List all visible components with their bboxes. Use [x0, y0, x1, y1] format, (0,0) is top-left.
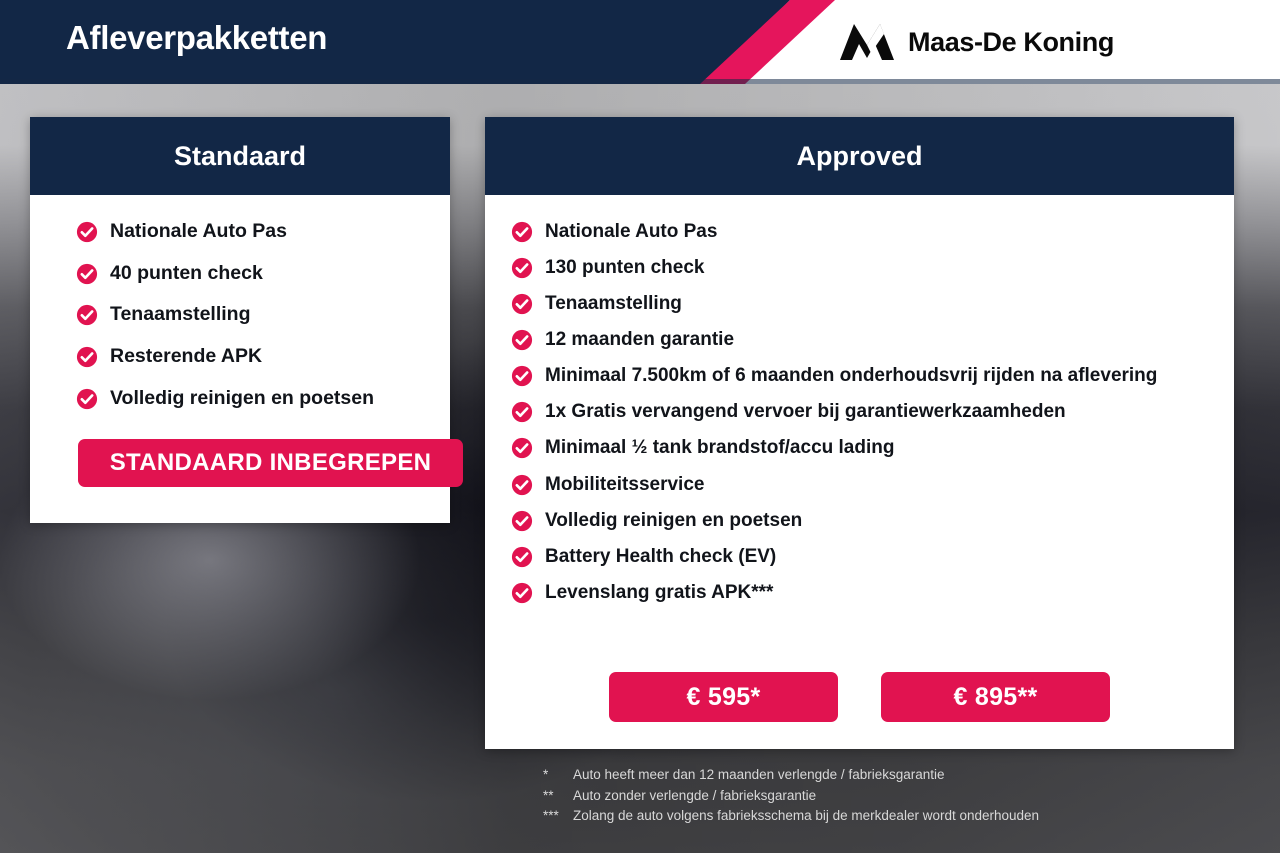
feature-label: Tenaamstelling: [110, 302, 251, 328]
feature-item: Mobiliteitsservice: [511, 472, 1234, 497]
card-body-standaard: Nationale Auto Pas40 punten checkTenaams…: [30, 195, 450, 412]
feature-item: 130 punten check: [511, 255, 1234, 280]
price-button[interactable]: € 595*: [609, 672, 838, 722]
brand-logo: Maas-De Koning: [838, 18, 1114, 66]
feature-item: Volledig reinigen en poetsen: [76, 386, 450, 412]
check-circle-icon: [511, 474, 533, 496]
check-circle-icon: [511, 510, 533, 532]
card-title-standaard: Standaard: [30, 117, 450, 195]
check-circle-icon: [511, 365, 533, 387]
check-circle-icon: [511, 221, 533, 243]
feature-item: Minimaal 7.500km of 6 maanden onderhouds…: [511, 363, 1234, 388]
feature-label: 1x Gratis vervangend vervoer bij garanti…: [545, 399, 1066, 424]
feature-item: Levenslang gratis APK***: [511, 580, 1234, 605]
feature-item: 12 maanden garantie: [511, 327, 1234, 352]
feature-item: Volledig reinigen en poetsen: [511, 508, 1234, 533]
footnote-item: **Auto zonder verlengde / fabrieksgarant…: [543, 786, 1039, 807]
feature-item: 40 punten check: [76, 261, 450, 287]
page-header: Afleverpakketten Maas-De Koning: [0, 0, 1280, 84]
feature-item: Tenaamstelling: [511, 291, 1234, 316]
header-underline: [0, 79, 1280, 84]
feature-item: Minimaal ½ tank brandstof/accu lading: [511, 435, 1234, 460]
feature-label: 12 maanden garantie: [545, 327, 734, 352]
check-circle-icon: [76, 388, 98, 410]
check-circle-icon: [511, 401, 533, 423]
footnote-text: Auto heeft meer dan 12 maanden verlengde…: [573, 765, 945, 786]
feature-list-standaard: Nationale Auto Pas40 punten checkTenaams…: [30, 195, 450, 412]
feature-list-approved: Nationale Auto Pas130 punten checkTenaam…: [485, 195, 1234, 605]
feature-label: Minimaal 7.500km of 6 maanden onderhouds…: [545, 363, 1157, 388]
check-circle-icon: [76, 304, 98, 326]
feature-label: Volledig reinigen en poetsen: [545, 508, 802, 533]
feature-label: Tenaamstelling: [545, 291, 682, 316]
feature-label: Resterende APK: [110, 344, 262, 370]
feature-item: Resterende APK: [76, 344, 450, 370]
feature-label: 40 punten check: [110, 261, 263, 287]
feature-label: Nationale Auto Pas: [545, 219, 717, 244]
footnote-item: *Auto heeft meer dan 12 maanden verlengd…: [543, 765, 1039, 786]
footnote-text: Auto zonder verlengde / fabrieksgarantie: [573, 786, 816, 807]
check-circle-icon: [76, 346, 98, 368]
page-title: Afleverpakketten: [66, 19, 327, 57]
feature-item: Nationale Auto Pas: [76, 219, 450, 245]
check-circle-icon: [511, 582, 533, 604]
check-circle-icon: [511, 546, 533, 568]
brand-name: Maas-De Koning: [908, 27, 1114, 58]
maas-de-koning-m-logo-icon: [838, 22, 896, 62]
price-button[interactable]: € 895**: [881, 672, 1110, 722]
check-circle-icon: [511, 329, 533, 351]
check-circle-icon: [76, 263, 98, 285]
feature-item: Tenaamstelling: [76, 302, 450, 328]
footnote-marker: *: [543, 765, 573, 786]
feature-label: Mobiliteitsservice: [545, 472, 704, 497]
feature-label: Nationale Auto Pas: [110, 219, 287, 245]
package-card-standaard: Standaard Nationale Auto Pas40 punten ch…: [30, 117, 450, 523]
standaard-included-button[interactable]: STANDAARD INBEGREPEN: [78, 439, 463, 487]
footnote-marker: **: [543, 786, 573, 807]
feature-label: Volledig reinigen en poetsen: [110, 386, 374, 412]
feature-item: Battery Health check (EV): [511, 544, 1234, 569]
card-title-approved: Approved: [485, 117, 1234, 195]
feature-item: Nationale Auto Pas: [511, 219, 1234, 244]
footnotes: *Auto heeft meer dan 12 maanden verlengd…: [543, 765, 1039, 827]
check-circle-icon: [76, 221, 98, 243]
check-circle-icon: [511, 437, 533, 459]
feature-label: Battery Health check (EV): [545, 544, 776, 569]
price-button-row: € 595*€ 895**: [485, 672, 1234, 722]
feature-label: 130 punten check: [545, 255, 704, 280]
feature-item: 1x Gratis vervangend vervoer bij garanti…: [511, 399, 1234, 424]
delivery-packages-poster: Afleverpakketten Maas-De Koning Standaar…: [0, 0, 1280, 853]
card-body-approved: Nationale Auto Pas130 punten checkTenaam…: [485, 195, 1234, 605]
footnote-item: ***Zolang de auto volgens fabrieksschema…: [543, 806, 1039, 827]
feature-label: Levenslang gratis APK***: [545, 580, 773, 605]
footnote-text: Zolang de auto volgens fabrieksschema bi…: [573, 806, 1039, 827]
check-circle-icon: [511, 293, 533, 315]
check-circle-icon: [511, 257, 533, 279]
feature-label: Minimaal ½ tank brandstof/accu lading: [545, 435, 894, 460]
footnote-marker: ***: [543, 806, 573, 827]
package-card-approved: Approved Nationale Auto Pas130 punten ch…: [485, 117, 1234, 749]
